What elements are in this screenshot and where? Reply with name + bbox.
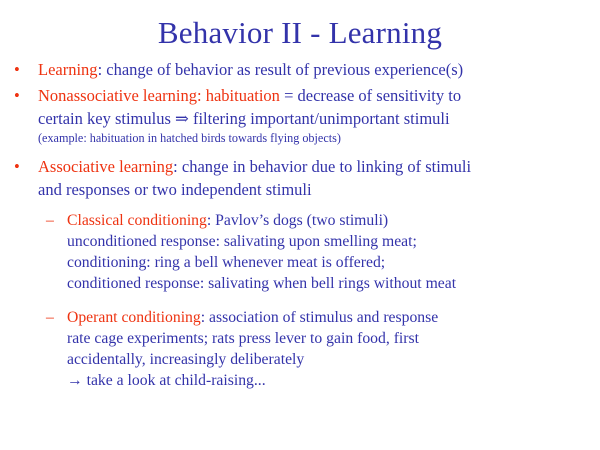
sub-bullet-keyword: Operant conditioning (67, 309, 201, 326)
bullet-item-nonassociative-learning: • Nonassociative learning: habituation =… (0, 84, 594, 147)
sub-bullet-list: – Classical conditioning: Pavlov’s dogs … (0, 210, 594, 391)
bullet-marker-icon: • (14, 84, 20, 108)
bullet-example-note: (example: habituation in hatched birds t… (38, 130, 594, 147)
bullet-line: Learning: change of behavior as result o… (38, 58, 594, 82)
bullet-marker-icon: • (14, 155, 20, 179)
sub-bullet-line: Classical conditioning: Pavlov’s dogs (t… (67, 210, 594, 231)
bullet-marker-icon: • (14, 58, 20, 82)
bullet-line: Associative learning: change in behavior… (38, 155, 594, 179)
slide-body-list: • Learning: change of behavior as result… (0, 58, 600, 391)
bullet-keyword: Nonassociative learning: habituation (38, 86, 280, 105)
sub-bullet-text: : association of stimulus and response (201, 309, 438, 326)
bullet-line-continued: and responses or two independent stimuli (38, 178, 594, 202)
sub-bullet-text: : Pavlov’s dogs (two stimuli) (207, 212, 388, 229)
sub-bullet-classical-conditioning: – Classical conditioning: Pavlov’s dogs … (0, 210, 594, 294)
bullet-keyword: Learning (38, 60, 98, 79)
slide-title: Behavior II - Learning (0, 0, 600, 58)
sub-bullet-line: rate cage experiments; rats press lever … (67, 328, 594, 349)
bullet-item-learning: • Learning: change of behavior as result… (0, 58, 594, 82)
spacer (0, 294, 594, 299)
bullet-keyword: Associative learning (38, 157, 173, 176)
sub-bullet-line: accidentally, increasingly deliberately (67, 349, 594, 370)
bullet-text: : change of behavior as result of previo… (98, 60, 464, 79)
sub-bullet-line: conditioning: ring a bell whenever meat … (67, 252, 594, 273)
sub-bullet-line: unconditioned response: salivating upon … (67, 231, 594, 252)
bullet-text: : change in behavior due to linking of s… (173, 157, 471, 176)
bullet-item-associative-learning: • Associative learning: change in behavi… (0, 155, 594, 202)
dash-marker-icon: – (46, 210, 54, 231)
bullet-text: = decrease of sensitivity to (280, 86, 461, 105)
sub-bullet-line: Operant conditioning: association of sti… (67, 307, 594, 328)
bullet-line-continued: certain key stimulus ⇒ filtering importa… (38, 107, 594, 131)
sub-bullet-operant-conditioning: – Operant conditioning: association of s… (0, 307, 594, 391)
dash-marker-icon: – (46, 307, 54, 328)
presentation-slide: Behavior II - Learning • Learning: chang… (0, 0, 600, 450)
bullet-line: Nonassociative learning: habituation = d… (38, 84, 594, 108)
sub-bullet-line: conditioned response: salivating when be… (67, 273, 594, 294)
sub-bullet-arrow-line: → take a look at child-raising... (67, 370, 594, 391)
sub-bullet-keyword: Classical conditioning (67, 212, 207, 229)
